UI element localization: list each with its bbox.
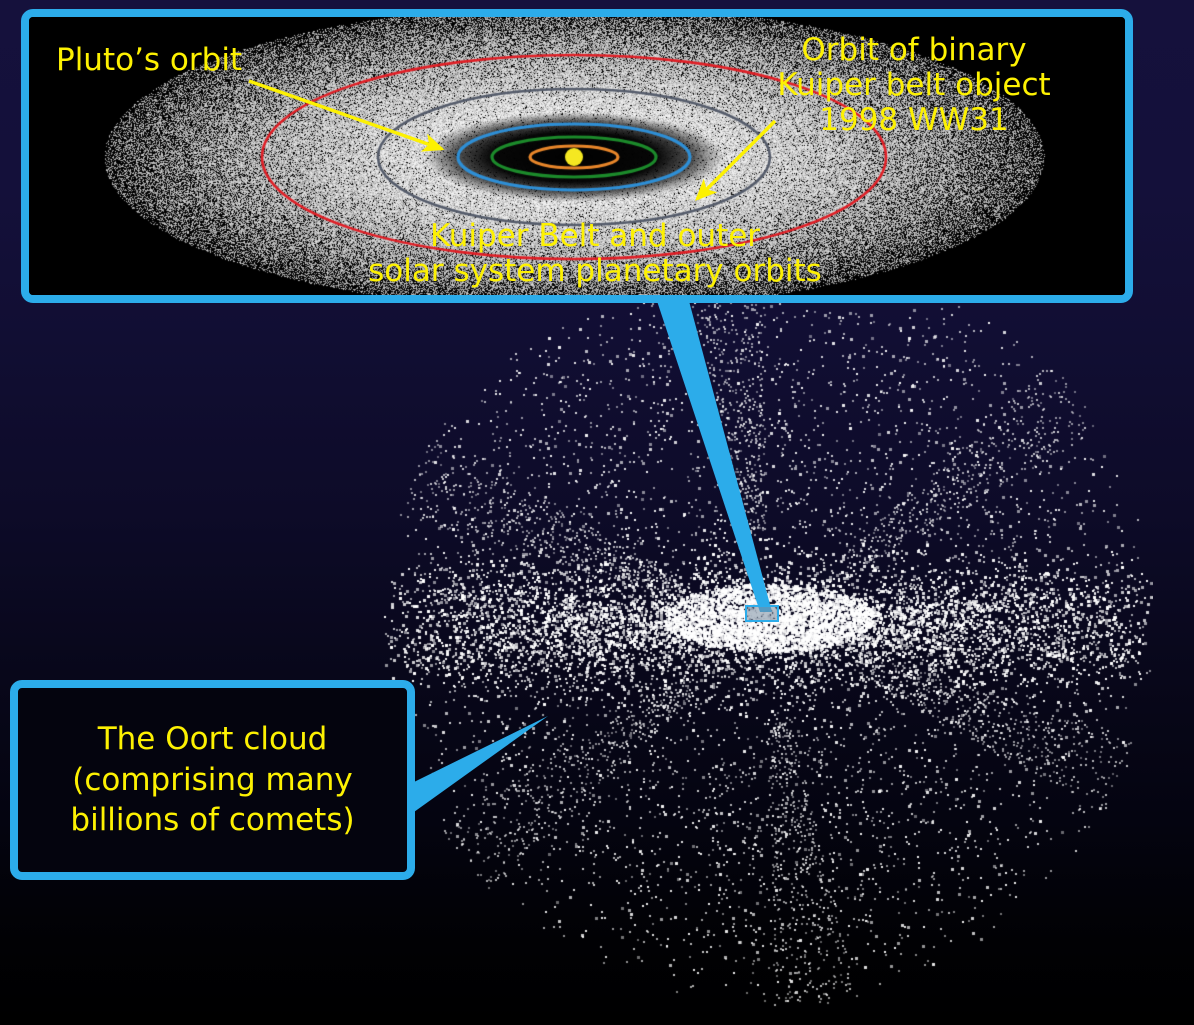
oort-cloud-callout: The Oort cloud (comprising many billions… [10, 680, 415, 880]
figure-root: Pluto’s orbit Orbit of binary Kuiper bel… [0, 0, 1194, 1025]
binary-kbo-label: Orbit of binary Kuiper belt object 1998 … [754, 33, 1074, 138]
pluto-orbit-label: Pluto’s orbit [56, 43, 242, 78]
kuiper-zoom-region-marker[interactable] [745, 605, 779, 622]
oort-cloud-label: The Oort cloud (comprising many billions… [70, 719, 354, 842]
oort-cloud-sphere [383, 240, 1153, 1010]
kuiper-belt-caption: Kuiper Belt and outer solar system plane… [325, 219, 865, 289]
kuiper-belt-panel: Pluto’s orbit Orbit of binary Kuiper bel… [21, 9, 1133, 303]
